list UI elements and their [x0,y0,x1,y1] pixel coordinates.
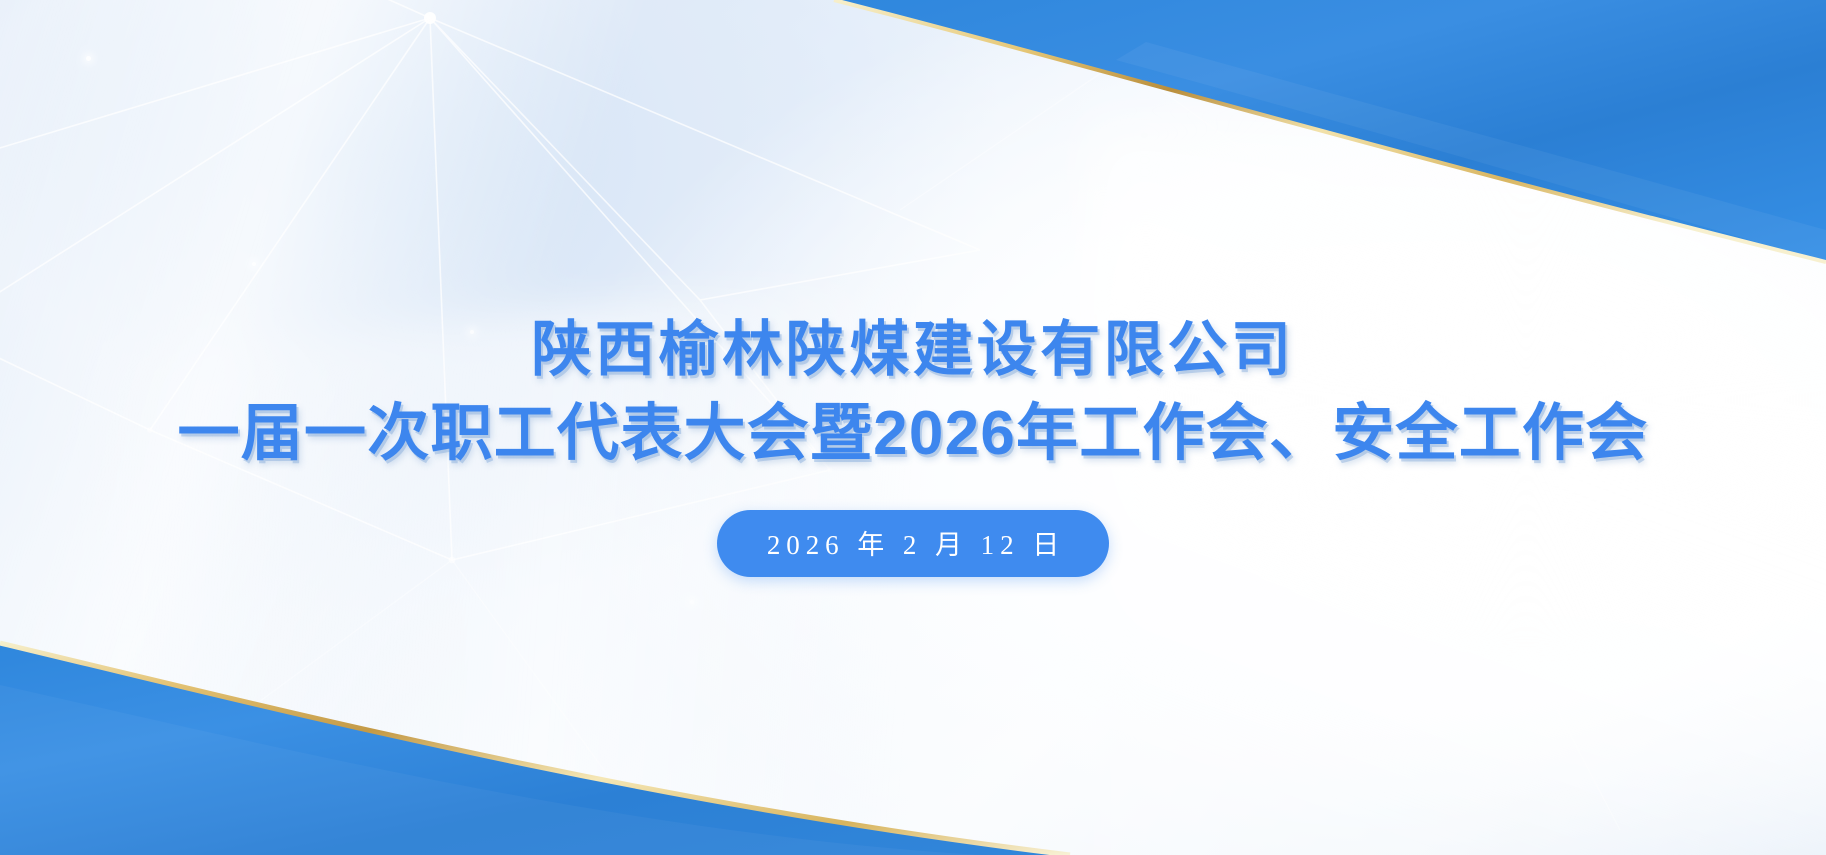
conference-banner: 陕西榆林陕煤建设有限公司 一届一次职工代表大会暨2026年工作会、安全工作会 2… [0,0,1826,855]
page-title-line-2: 一届一次职工代表大会暨2026年工作会、安全工作会 [178,399,1649,468]
banner-content: 陕西榆林陕煤建设有限公司 一届一次职工代表大会暨2026年工作会、安全工作会 2… [0,0,1826,855]
page-title-line-1: 陕西榆林陕煤建设有限公司 [531,318,1294,383]
date-badge: 2026 年 2 月 12 日 [717,510,1109,577]
